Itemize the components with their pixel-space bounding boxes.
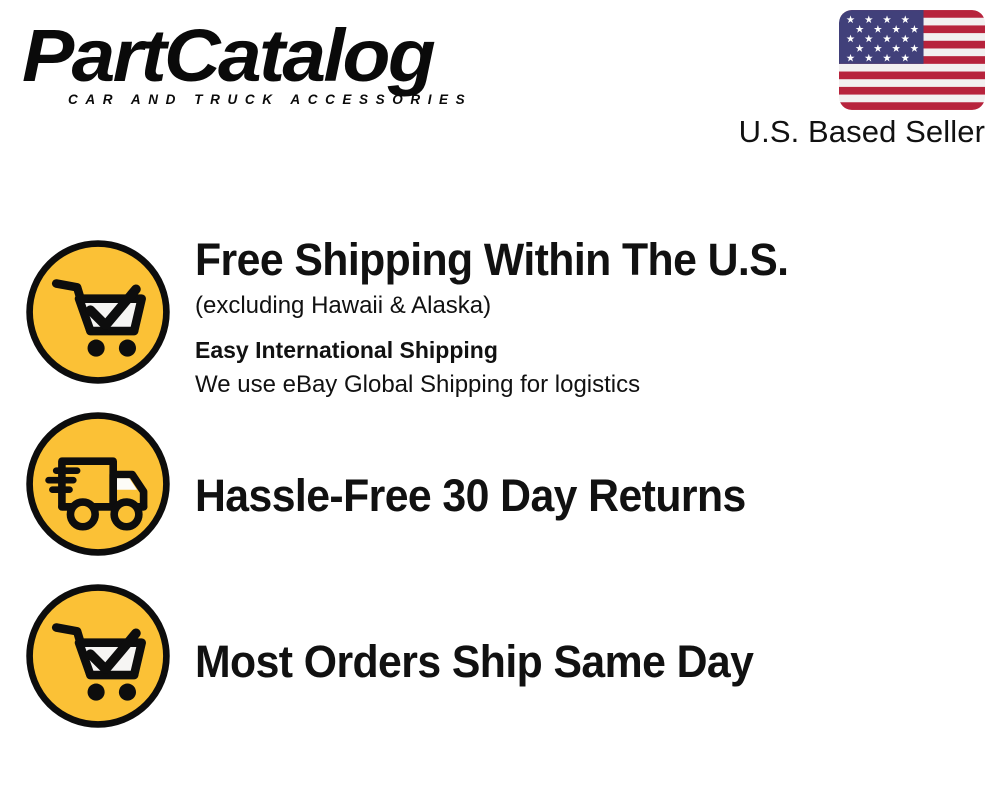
benefit-title: Most Orders Ship Same Day [195, 638, 960, 685]
delivery-truck-icon [22, 408, 174, 560]
benefit-row: Free Shipping Within The U.S. (excluding… [0, 236, 1000, 408]
us-based-seller-label: U.S. Based Seller [685, 114, 985, 150]
benefit-title: Hassle-Free 30 Day Returns [195, 472, 960, 519]
brand-logo[interactable]: PartCatalog CAR AND TRUCK ACCESSORIES [22, 22, 492, 107]
benefit-extra-text: We use eBay Global Shipping for logistic… [195, 369, 1000, 400]
benefit-text-block: Free Shipping Within The U.S. (excluding… [195, 236, 1000, 401]
benefit-text-block: Hassle-Free 30 Day Returns [195, 408, 1000, 519]
cart-check-icon [22, 580, 174, 732]
benefit-icon-wrap [0, 580, 195, 732]
benefit-icon-wrap [0, 408, 195, 560]
page-header: PartCatalog CAR AND TRUCK ACCESSORIES [0, 0, 1000, 170]
benefit-extra-heading: Easy International Shipping [195, 336, 1000, 366]
benefit-subtitle: (excluding Hawaii & Alaska) [195, 290, 1000, 321]
us-flag-icon [839, 10, 985, 110]
benefits-list: Free Shipping Within The U.S. (excluding… [0, 236, 1000, 750]
benefit-row: Most Orders Ship Same Day [0, 580, 1000, 750]
cart-check-icon [22, 236, 174, 388]
benefit-text-block: Most Orders Ship Same Day [195, 580, 1000, 685]
benefit-icon-wrap [0, 236, 195, 388]
us-based-seller-badge: U.S. Based Seller [685, 10, 985, 150]
benefit-row: Hassle-Free 30 Day Returns [0, 408, 1000, 580]
benefit-title: Free Shipping Within The U.S. [195, 236, 960, 283]
brand-logo-wordmark: PartCatalog [22, 22, 520, 90]
